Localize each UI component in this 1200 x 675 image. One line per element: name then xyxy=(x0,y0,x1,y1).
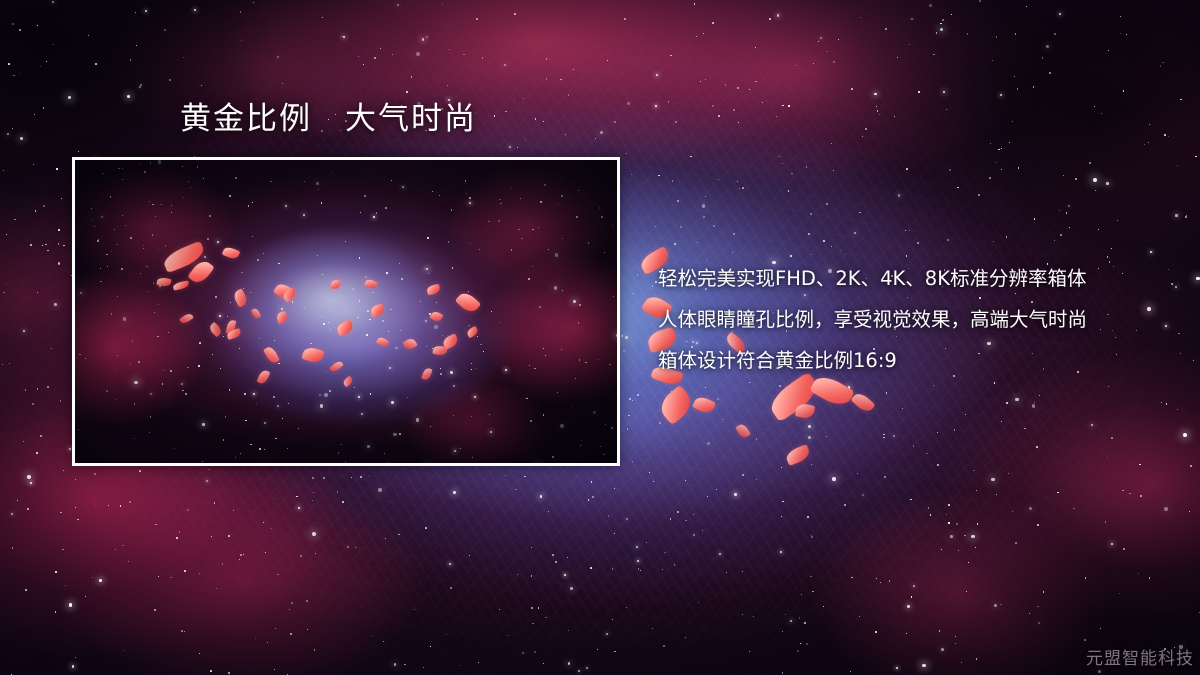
petal xyxy=(850,390,875,414)
body-line-2: 人体眼睛瞳孔比例，享受视觉效果，高端大气时尚 xyxy=(658,299,1178,340)
display-preview-content xyxy=(75,160,617,463)
petal xyxy=(692,394,716,415)
petal xyxy=(735,422,751,439)
petal xyxy=(655,385,696,425)
display-preview-frame xyxy=(72,157,620,466)
body-line-3: 箱体设计符合黄金比例16:9 xyxy=(658,340,1178,381)
petal xyxy=(795,402,816,419)
body-text-block: 轻松完美实现FHD、2K、4K、8K标准分辨率箱体 人体眼睛瞳孔比例，享受视觉效… xyxy=(658,258,1178,381)
watermark: 元盟智能科技 xyxy=(1086,644,1194,669)
body-line-1: 轻松完美实现FHD、2K、4K、8K标准分辨率箱体 xyxy=(658,258,1178,299)
petal xyxy=(784,444,811,466)
presentation-slide: 黄金比例 大气时尚 轻松完美实现FHD、2K、4K、8K标准分辨率箱体 人体眼睛… xyxy=(0,0,1200,675)
page-title: 黄金比例 大气时尚 xyxy=(180,101,477,138)
preview-vignette xyxy=(75,160,617,463)
